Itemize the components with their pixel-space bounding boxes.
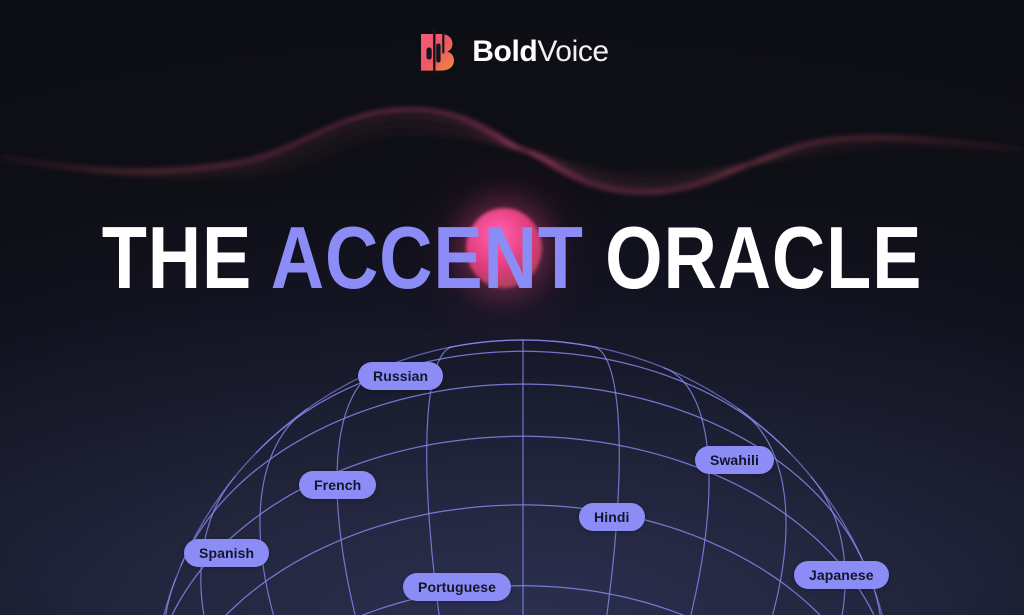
language-pill-label: Swahili bbox=[710, 452, 759, 468]
brand-header: BoldVoice bbox=[0, 0, 1024, 104]
title-part-1: THE bbox=[102, 208, 271, 307]
brand-wordmark: BoldVoice bbox=[472, 37, 608, 67]
language-pill-hindi[interactable]: Hindi bbox=[579, 503, 645, 531]
language-pill-label: Japanese bbox=[809, 567, 874, 583]
language-pill-russian[interactable]: Russian bbox=[358, 362, 443, 390]
hero-banner: BoldVoice THE ACCENT ORACLE RussianSwahi… bbox=[0, 0, 1024, 615]
language-pill-spanish[interactable]: Spanish bbox=[184, 539, 269, 567]
language-pill-label: Portuguese bbox=[418, 579, 496, 595]
audio-waveform-band bbox=[0, 98, 1024, 203]
language-pill-label: French bbox=[314, 477, 361, 493]
brand-name-bold: Bold bbox=[472, 35, 537, 68]
language-pill-label: Hindi bbox=[594, 509, 630, 525]
page-title: THE ACCENT ORACLE bbox=[82, 214, 942, 302]
language-pill-french[interactable]: French bbox=[299, 471, 376, 499]
language-pill-label: Russian bbox=[373, 368, 428, 384]
language-pill-portuguese[interactable]: Portuguese bbox=[403, 573, 511, 601]
waveform-svg bbox=[0, 98, 1024, 203]
title-accent-word: ACCENT bbox=[271, 208, 584, 307]
language-pill-label: Spanish bbox=[199, 545, 254, 561]
globe-grid-lines bbox=[162, 340, 884, 615]
boldvoice-b-waveform-icon bbox=[415, 29, 459, 75]
language-pill-japanese[interactable]: Japanese bbox=[794, 561, 889, 589]
language-pill-swahili[interactable]: Swahili bbox=[695, 446, 774, 474]
brand-name-light: Voice bbox=[537, 35, 608, 68]
title-part-2: ORACLE bbox=[584, 208, 923, 307]
